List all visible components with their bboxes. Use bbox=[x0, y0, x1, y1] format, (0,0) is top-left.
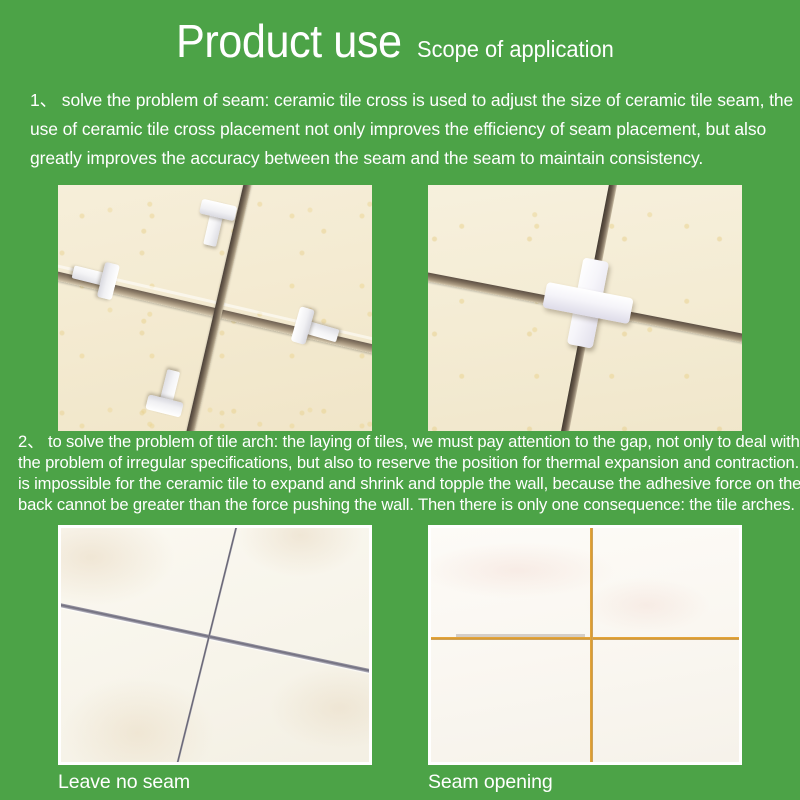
paragraph-line: 2、 to solve the problem of tile arch: th… bbox=[18, 431, 788, 452]
paragraph-line: 1、 solve the problem of seam: ceramic ti… bbox=[30, 86, 774, 115]
grout-line-horizontal bbox=[431, 637, 739, 640]
section-1-paragraph: 1、 solve the problem of seam: ceramic ti… bbox=[30, 86, 774, 173]
section-2-photo-row bbox=[0, 525, 800, 765]
caption-seam-opening: Seam opening bbox=[428, 771, 742, 794]
page-title: Product use bbox=[176, 14, 402, 68]
paragraph-line: the problem of irregular specifications,… bbox=[18, 452, 788, 473]
page-header: Product useScope of application bbox=[0, 0, 800, 74]
page-subtitle: Scope of application bbox=[417, 36, 614, 63]
product-use-infographic: { "theme": { "background_green": "#4CA34… bbox=[0, 0, 800, 800]
photo-tiles-no-seam bbox=[58, 525, 372, 765]
tile-surface bbox=[61, 528, 369, 762]
paragraph-line: is impossible for the ceramic tile to ex… bbox=[18, 473, 788, 494]
section-2-paragraph: 2、 to solve the problem of tile arch: th… bbox=[18, 431, 788, 515]
photo-beige-tiles-with-t-spacers bbox=[58, 185, 372, 431]
paragraph-line: greatly improves the accuracy between th… bbox=[30, 144, 774, 173]
section-1-photo-row bbox=[0, 185, 800, 431]
tile-surface bbox=[431, 528, 739, 762]
photo-caption-row: Leave no seam Seam opening bbox=[0, 771, 800, 794]
paragraph-line: back cannot be greater than the force pu… bbox=[18, 494, 788, 515]
caption-leave-no-seam: Leave no seam bbox=[58, 771, 372, 794]
grout-line-vertical bbox=[590, 528, 593, 762]
photo-tiles-seam-opening bbox=[428, 525, 742, 765]
paragraph-line: use of ceramic tile cross placement not … bbox=[30, 115, 774, 144]
photo-beige-tiles-with-cross-spacer bbox=[428, 185, 742, 431]
